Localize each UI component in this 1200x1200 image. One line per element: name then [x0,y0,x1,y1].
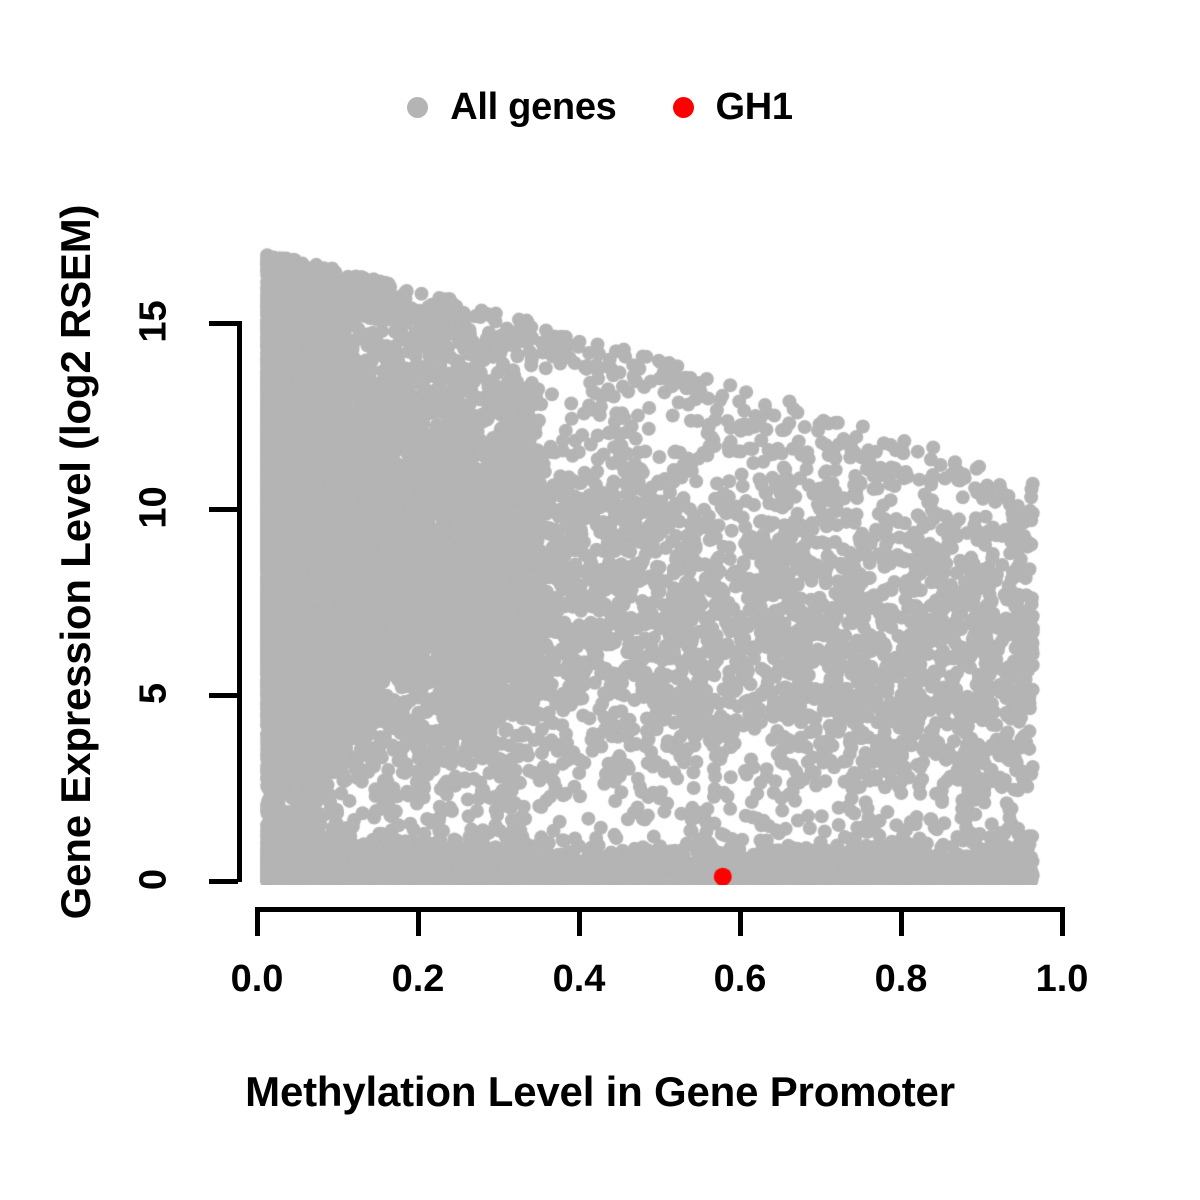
plot-area [258,245,1063,885]
x-tick-2 [577,907,582,936]
y-tick-label-15: 15 [133,292,176,352]
y-axis-line [237,321,242,882]
legend-entry-gh1: GH1 [673,86,793,129]
legend-label-all-genes: All genes [450,86,616,129]
x-tick-3 [738,907,743,936]
x-tick-label-5: 1.0 [1002,958,1122,1001]
y-tick-label-5: 5 [133,664,176,724]
x-tick-5 [1060,907,1065,936]
chart-legend: All genes GH1 [0,78,1200,136]
x-tick-0 [255,907,260,936]
x-tick-1 [416,907,421,936]
y-tick-15 [209,321,238,326]
x-tick-label-1: 0.2 [358,958,478,1001]
legend-entry-all-genes: All genes [407,86,616,129]
gray-dot-icon [407,97,428,118]
x-axis-line [255,907,1065,912]
x-tick-label-3: 0.6 [680,958,800,1001]
y-axis-title-wrap: Gene Expression Level (log2 RSEM) [46,62,106,1062]
y-tick-5 [209,693,238,698]
y-axis-title: Gene Expression Level (log2 RSEM) [52,205,100,920]
x-tick-label-4: 0.8 [841,958,961,1001]
scatter-points-canvas [258,245,1063,885]
x-tick-label-2: 0.4 [519,958,639,1001]
x-tick-label-0: 0.0 [197,958,317,1001]
y-tick-0 [209,879,238,884]
scatter-plot-figure: All genes GH1 15 10 5 0 0.0 0.2 0.4 0.6 … [0,0,1200,1200]
y-tick-10 [209,507,238,512]
red-dot-icon [673,97,694,118]
x-axis-title: Methylation Level in Gene Promoter [0,1068,1200,1116]
x-tick-4 [899,907,904,936]
y-tick-label-10: 10 [133,478,176,538]
legend-label-gh1: GH1 [716,86,793,129]
y-tick-label-0: 0 [133,850,176,910]
